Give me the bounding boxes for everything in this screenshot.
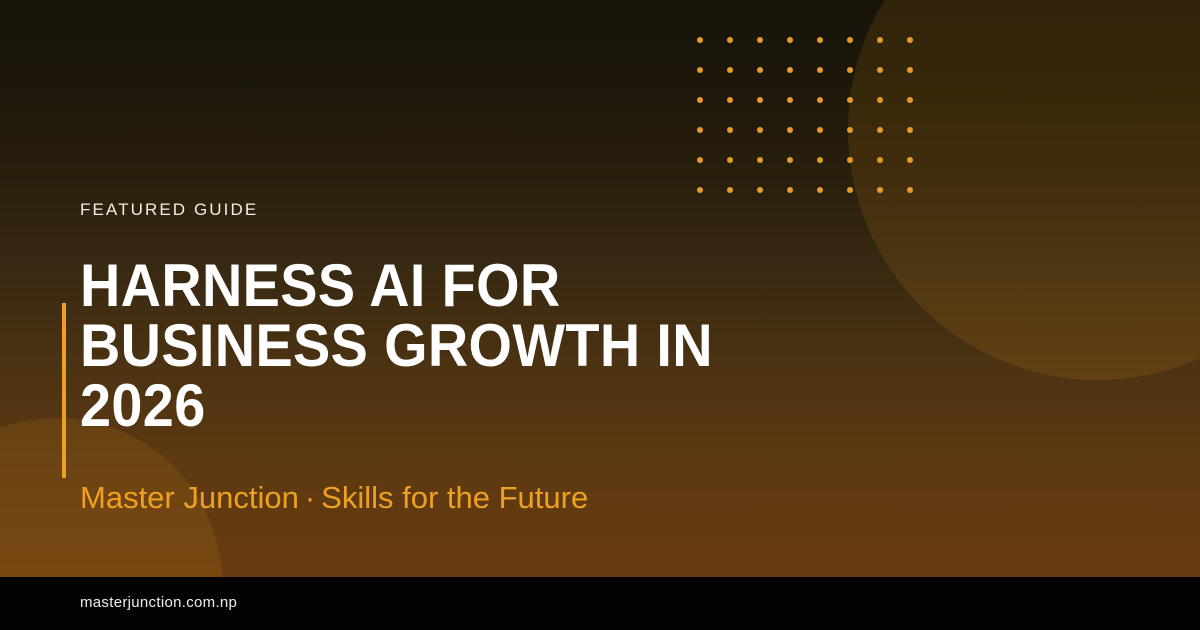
subtitle: Master Junction·Skills for the Future [80,478,588,518]
eyebrow-label: FEATURED GUIDE [80,200,258,220]
banner-content: FEATURED GUIDE HARNESS AI FOR BUSINESS G… [80,0,900,577]
subtitle-brand: Master Junction [80,480,299,515]
accent-bar [62,303,66,478]
footer-bar: masterjunction.com.np [0,577,1200,630]
dot [907,127,913,133]
subtitle-tagline: Skills for the Future [321,480,588,515]
footer-website-url: masterjunction.com.np [80,594,237,611]
page-title: HARNESS AI FOR BUSINESS GROWTH IN 2026 [80,256,815,436]
dot [907,37,913,43]
featured-guide-banner: FEATURED GUIDE HARNESS AI FOR BUSINESS G… [0,0,1200,630]
dot [907,97,913,103]
subtitle-separator: · [299,480,321,515]
dot [907,67,913,73]
dot [907,187,913,193]
dot [907,157,913,163]
